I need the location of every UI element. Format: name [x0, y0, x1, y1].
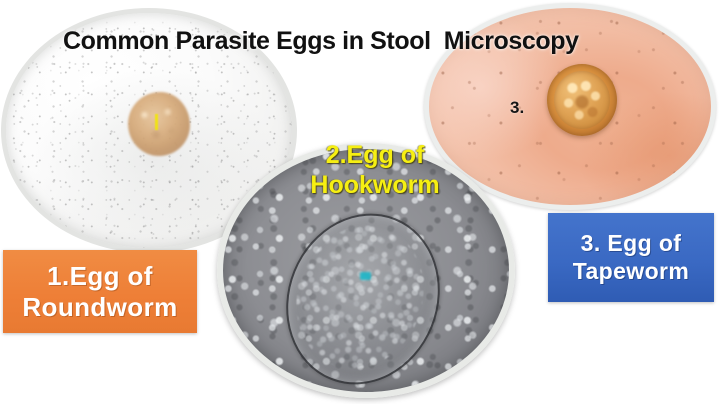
tapeworm-egg-hooklets: [558, 75, 606, 125]
screenshot-canvas: 3. Common Parasite Eggs in Stool Microsc…: [0, 0, 720, 404]
page-title: Common Parasite Eggs in Stool Microscopy: [63, 27, 663, 56]
callout-label-tapeworm: 3. Egg of Tapeworm: [548, 213, 714, 302]
roundworm-egg-texture: [130, 94, 188, 154]
pointer-marker-hookworm: [360, 272, 371, 280]
in-field-number-marker-tapeworm: 3.: [510, 98, 524, 118]
pointer-marker-roundworm: [155, 114, 158, 130]
callout-label-roundworm: 1.Egg of Roundworm: [3, 250, 197, 333]
callout-label-hookworm: 2.Egg of Hookworm: [268, 140, 482, 200]
